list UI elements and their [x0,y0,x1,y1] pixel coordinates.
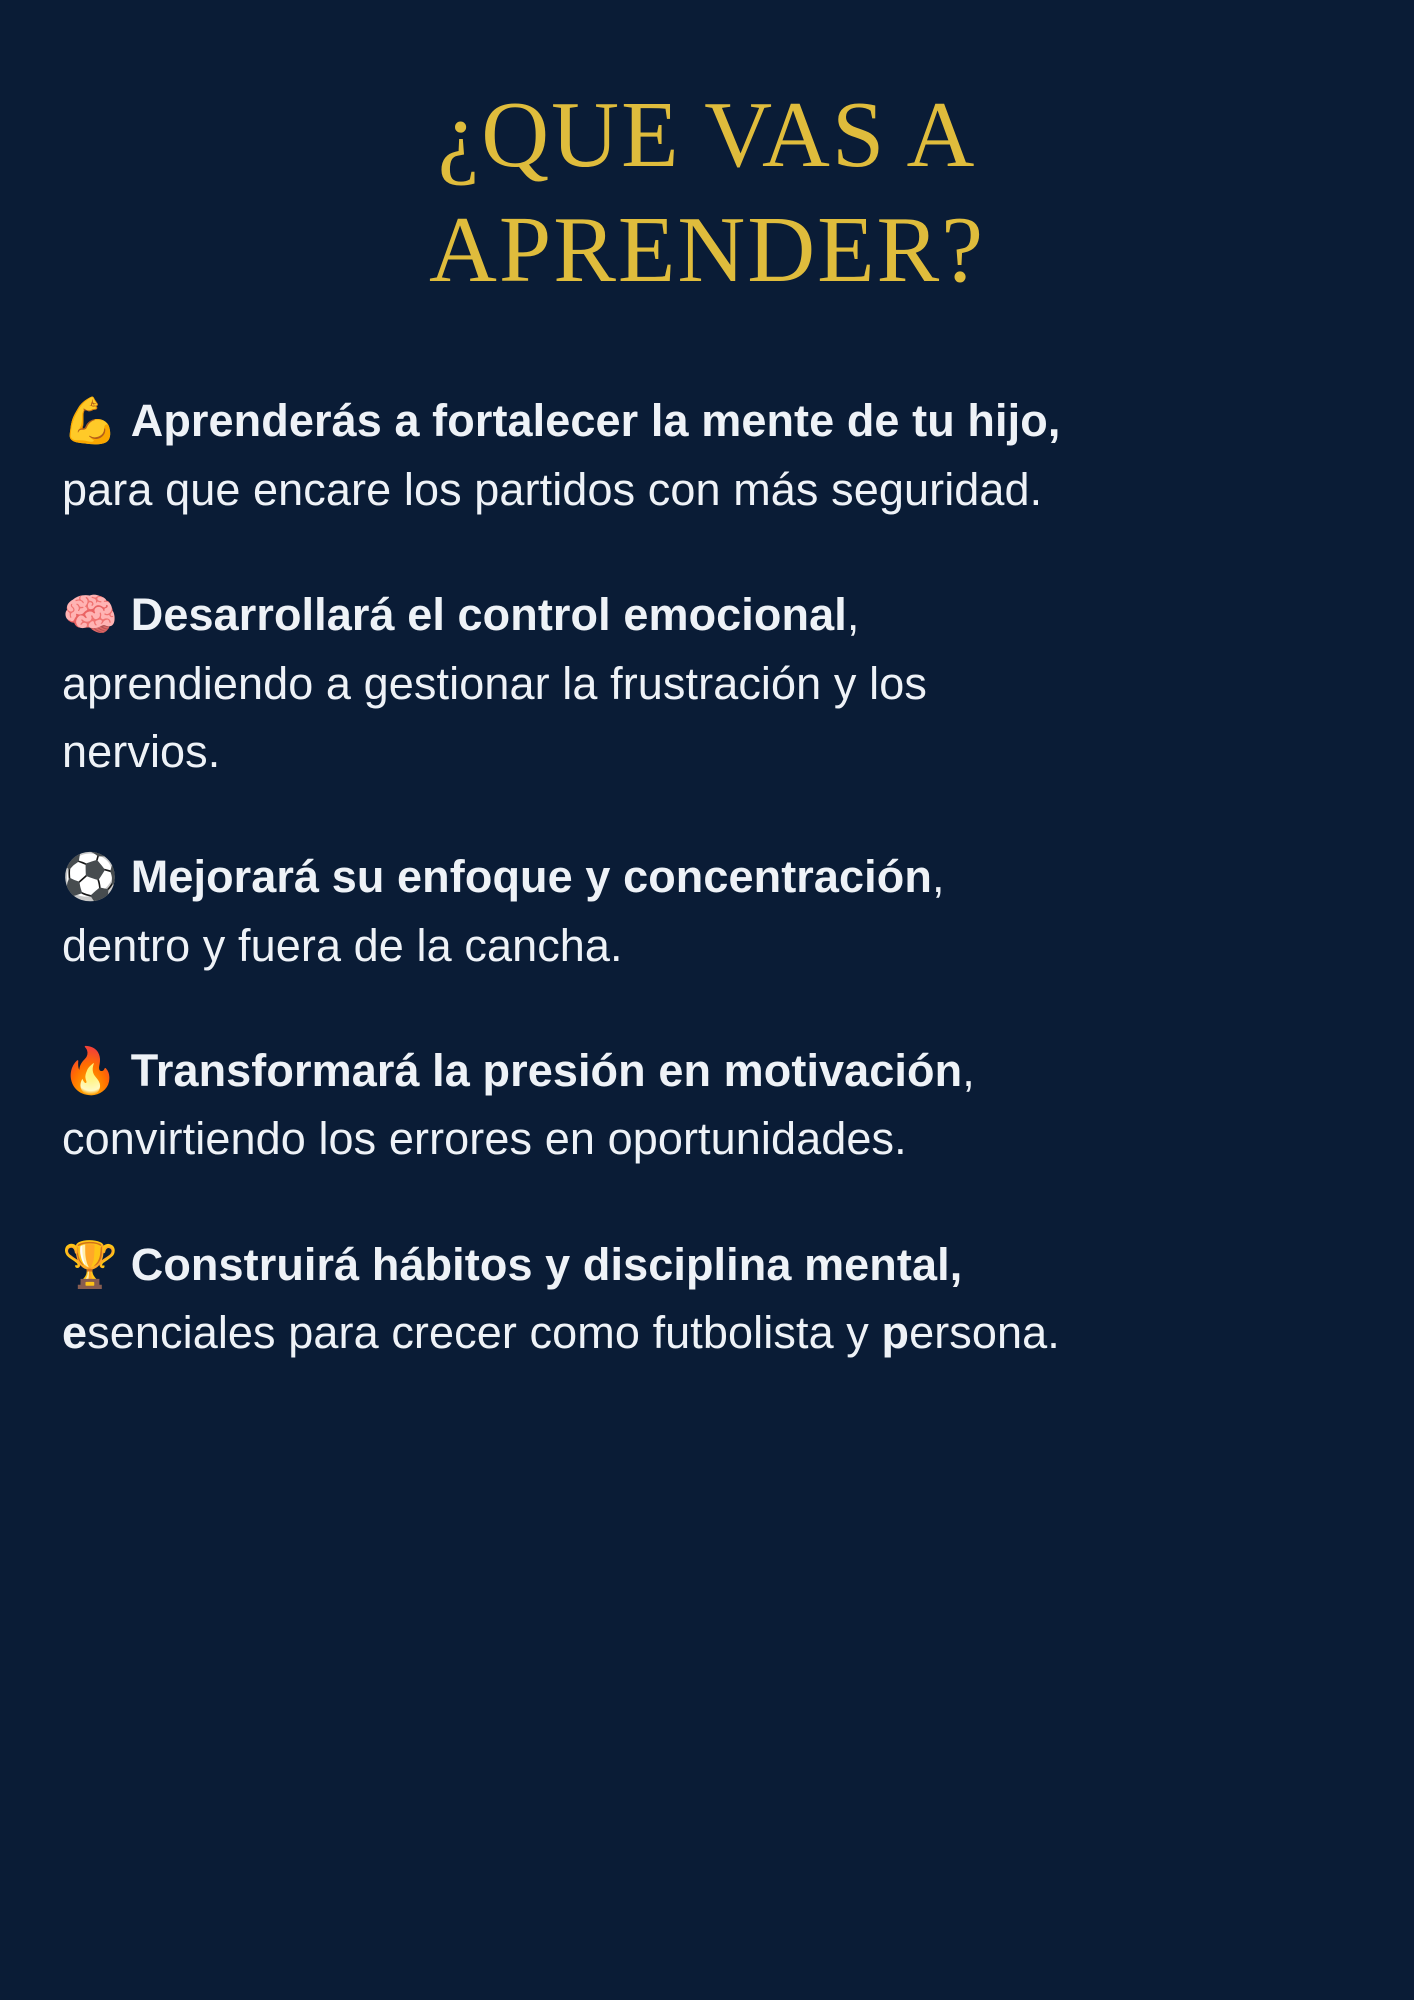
list-item: 💪 Aprenderás a fortalecer la mente de tu… [62,387,1062,524]
list-item: 🧠 Desarrollará el control emocional, apr… [62,581,1062,786]
list-item-lead-bold-1: e [62,1307,87,1358]
list-item-spacer [118,1239,131,1290]
list-item-bold: Mejorará su enfoque y concentración [131,851,932,902]
list-item-lead-bold-2: p [882,1307,910,1358]
title-block: ¿QUE VAS A APRENDER? [0,0,1414,307]
list-item: 🏆 Construirá hábitos y disciplina mental… [62,1231,1062,1368]
fire-icon: 🔥 [62,1044,118,1097]
brain-icon: 🧠 [62,588,118,641]
list-item-spacer [118,395,131,446]
benefits-list: 💪 Aprenderás a fortalecer la mente de tu… [0,387,1414,1367]
list-item-spacer [118,589,131,640]
page-title: ¿QUE VAS A APRENDER? [297,78,1117,307]
list-item: ⚽ Mejorará su enfoque y concentración, d… [62,843,1062,980]
list-item-spacer [118,1045,131,1096]
flexed-biceps-icon: 💪 [62,394,118,447]
list-item-bold: Transformará la presión en motivación [131,1045,962,1096]
slide-root: ¿QUE VAS A APRENDER? 💪 Aprenderás a fort… [0,0,1414,2000]
list-item-rest: para que encare los partidos con más seg… [62,464,1042,515]
list-item: 🔥 Transformará la presión en motivación,… [62,1037,1062,1174]
list-item-spacer [118,851,131,902]
list-item-bold: Desarrollará el control emocional [131,589,847,640]
list-item-rest-2: ersona. [909,1307,1060,1358]
list-item-bold: Aprenderás a fortalecer la mente de tu h… [131,395,1061,446]
list-item-bold: Construirá hábitos y disciplina mental, [131,1239,963,1290]
list-item-rest-1: senciales para crecer como futbolista y [87,1307,881,1358]
trophy-icon: 🏆 [62,1238,118,1291]
soccer-ball-icon: ⚽ [62,850,118,903]
